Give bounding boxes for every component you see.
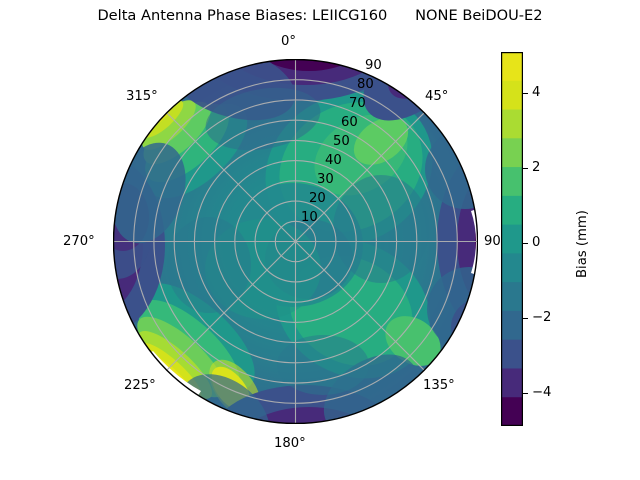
colorbar-band: [501, 397, 523, 426]
figure-canvas: Delta Antenna Phase Biases: LEIICG160 NO…: [0, 0, 640, 480]
colorbar-swatches: [501, 52, 523, 426]
angular-tick-0: 0°: [281, 35, 296, 48]
radial-tick-70: 70: [349, 97, 366, 110]
colorbar-band: [501, 81, 523, 110]
figure-title: Delta Antenna Phase Biases: LEIICG160 NO…: [0, 7, 640, 24]
colorbar-band: [501, 225, 523, 254]
colorbar-tick-mark-m4: [523, 393, 528, 394]
colorbar-band: [501, 311, 523, 340]
colorbar-band: [501, 52, 523, 81]
angular-tick-225: 225°: [124, 379, 156, 392]
angular-tick-45: 45°: [425, 90, 448, 103]
colorbar: [501, 52, 523, 426]
angular-tick-180: 180°: [274, 437, 306, 450]
polar-grid: [114, 60, 478, 424]
radial-tick-30: 30: [317, 173, 334, 186]
colorbar-tick-label-0: 0: [532, 236, 540, 249]
polar-plot: 0° 45° 90° 135° 180° 225° 270° 315° 10 2…: [113, 59, 478, 424]
radial-tick-10: 10: [301, 211, 318, 224]
colorbar-axis-label: Bias (mm): [576, 210, 589, 278]
colorbar-band: [501, 196, 523, 225]
radial-tick-60: 60: [341, 116, 358, 129]
colorbar-band: [501, 340, 523, 369]
angular-tick-270: 270°: [63, 235, 95, 248]
colorbar-tick-label-m4: −4: [532, 386, 551, 399]
radial-tick-20: 20: [309, 192, 326, 205]
radial-tick-50: 50: [333, 135, 350, 148]
colorbar-tick-mark-m2: [523, 318, 528, 319]
colorbar-band: [501, 282, 523, 311]
colorbar-band: [501, 253, 523, 282]
radial-tick-40: 40: [325, 154, 342, 167]
colorbar-band: [501, 110, 523, 139]
angular-tick-135: 135°: [423, 379, 455, 392]
colorbar-tick-label-2: 2: [532, 161, 540, 174]
colorbar-tick-label-m2: −2: [532, 311, 551, 324]
radial-tick-90: 90: [365, 59, 382, 72]
colorbar-band: [501, 138, 523, 167]
angular-tick-315: 315°: [126, 90, 158, 103]
colorbar-tick-mark-2: [523, 168, 528, 169]
colorbar-tick-mark-4: [523, 93, 528, 94]
polar-plot-svg: [113, 59, 478, 424]
colorbar-tick-mark-0: [523, 243, 528, 244]
colorbar-band: [501, 167, 523, 196]
colorbar-band: [501, 368, 523, 397]
colorbar-tick-label-4: 4: [532, 86, 540, 99]
radial-tick-80: 80: [357, 78, 374, 91]
